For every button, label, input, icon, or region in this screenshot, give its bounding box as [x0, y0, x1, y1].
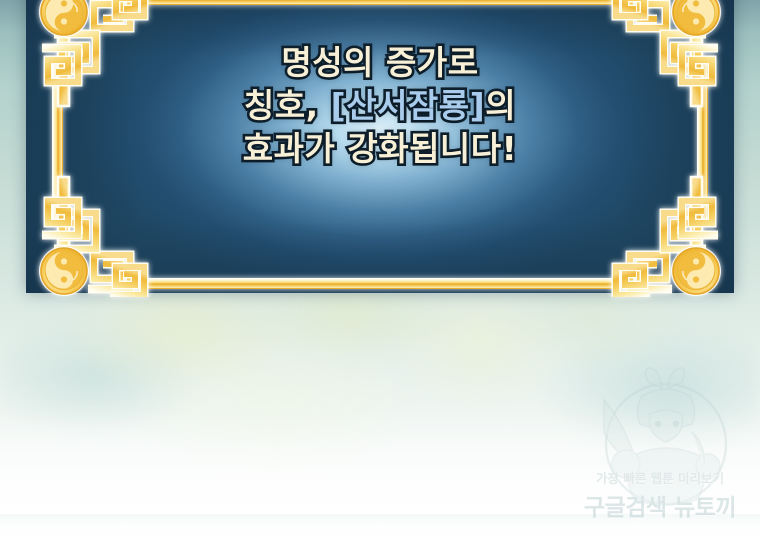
message-line-3-text: 효과가 강화됩니다! [243, 129, 517, 168]
yin-yang-icon [671, 246, 721, 296]
site-watermark: 가장 빠른 웹툰 미리보기 구글검색 뉴토끼 [570, 366, 754, 532]
meander-motif-top [88, 0, 144, 28]
frame-bar-bottom-groove [130, 283, 630, 285]
announcement-panel: 명성의 증가로 칭호, [산서잠룡]의 효과가 강화됩니다! [26, 0, 734, 293]
message-line-2-suffix: 의 [485, 86, 516, 125]
frame-bar-bottom [130, 278, 630, 289]
yin-yang-icon [39, 246, 89, 296]
announcement-scene: 명성의 증가로 칭호, [산서잠룡]의 효과가 강화됩니다! [0, 0, 760, 540]
watermark-subtitle: 가장 빠른 웹툰 미리보기 [570, 468, 750, 487]
watermark-text: 가장 빠른 웹툰 미리보기 구글검색 뉴토끼 [570, 468, 750, 522]
frame-bar-top-groove [130, 0, 630, 1]
message-title-highlight: [산서잠룡] [331, 86, 486, 125]
message-line-3: 효과가 강화됩니다! [26, 128, 734, 171]
corner-ornament-top-left [24, 0, 154, 110]
watermark-title: 구글검색 뉴토끼 [570, 488, 750, 522]
corner-ornament-top-right [606, 0, 736, 110]
corner-ornament-bottom-left [24, 173, 154, 297]
frame-bar-top [130, 0, 630, 5]
message-line-1-text: 명성의 증가로 [281, 43, 478, 82]
message-line-2-prefix: 칭호, [244, 86, 331, 125]
corner-ornament-bottom-right [606, 173, 736, 297]
